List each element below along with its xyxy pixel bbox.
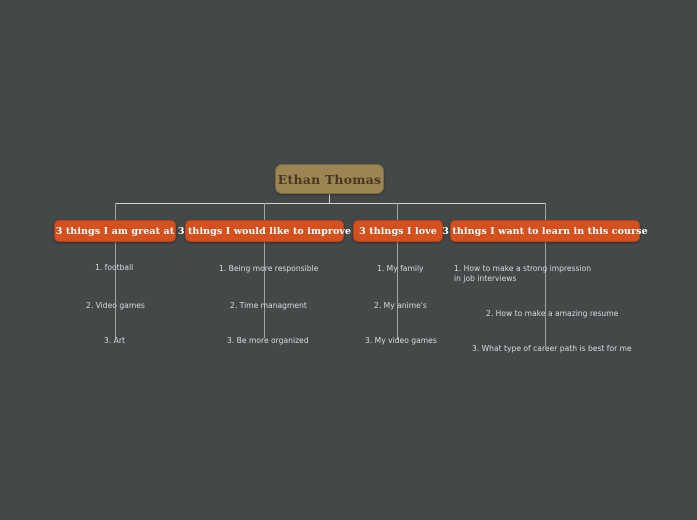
leaf-item-3-1: 1. My family (377, 264, 424, 274)
leaf-item-3-3: 3. My video games (365, 336, 437, 346)
leaf-item-1-1: 1. football (95, 263, 133, 273)
category-node-2[interactable]: 3 things I would like to improve (185, 220, 344, 242)
connector-drop-branch-3 (397, 203, 398, 221)
category-node-1[interactable]: 3 things I am great at (54, 220, 176, 242)
connector-root-stem (329, 194, 330, 203)
category-node-2-label: 3 things I would like to improve (178, 226, 351, 237)
category-node-3[interactable]: 3 things I love (353, 220, 443, 242)
connector-spine-branch-1 (115, 242, 116, 338)
connector-drop-branch-4 (545, 203, 546, 221)
category-node-1-label: 3 things I am great at (56, 226, 175, 237)
connector-spine-branch-4 (545, 242, 546, 346)
leaf-item-2-3: 3. Be more organized (227, 336, 309, 346)
connector-horizontal-bus (115, 203, 545, 204)
root-node[interactable]: Ethan Thomas (275, 164, 384, 194)
leaf-item-1-3: 3. Art (104, 336, 125, 346)
category-node-4-label: 3 things I want to learn in this course (442, 226, 647, 237)
leaf-item-4-1: 1. How to make a strong impression in jo… (454, 264, 600, 284)
leaf-item-4-3: 3. What type of career path is best for … (472, 344, 632, 354)
mindmap-canvas: Ethan Thomas 3 things I am great at 1. f… (0, 0, 697, 520)
leaf-item-2-2: 2. Time managment (230, 301, 307, 311)
leaf-item-1-2: 2. Video games (86, 301, 145, 311)
root-node-label: Ethan Thomas (278, 172, 381, 187)
category-node-3-label: 3 things I love (359, 226, 437, 237)
leaf-item-3-2: 2. My anime's (374, 301, 427, 311)
connector-drop-branch-2 (264, 203, 265, 221)
leaf-item-4-2: 2. How to make a amazing resume (486, 309, 618, 319)
category-node-4[interactable]: 3 things I want to learn in this course (450, 220, 640, 242)
connector-drop-branch-1 (115, 203, 116, 221)
connector-spine-branch-3 (397, 242, 398, 340)
connector-spine-branch-2 (264, 242, 265, 338)
leaf-item-2-1: 1. Being more responsible (219, 264, 318, 274)
